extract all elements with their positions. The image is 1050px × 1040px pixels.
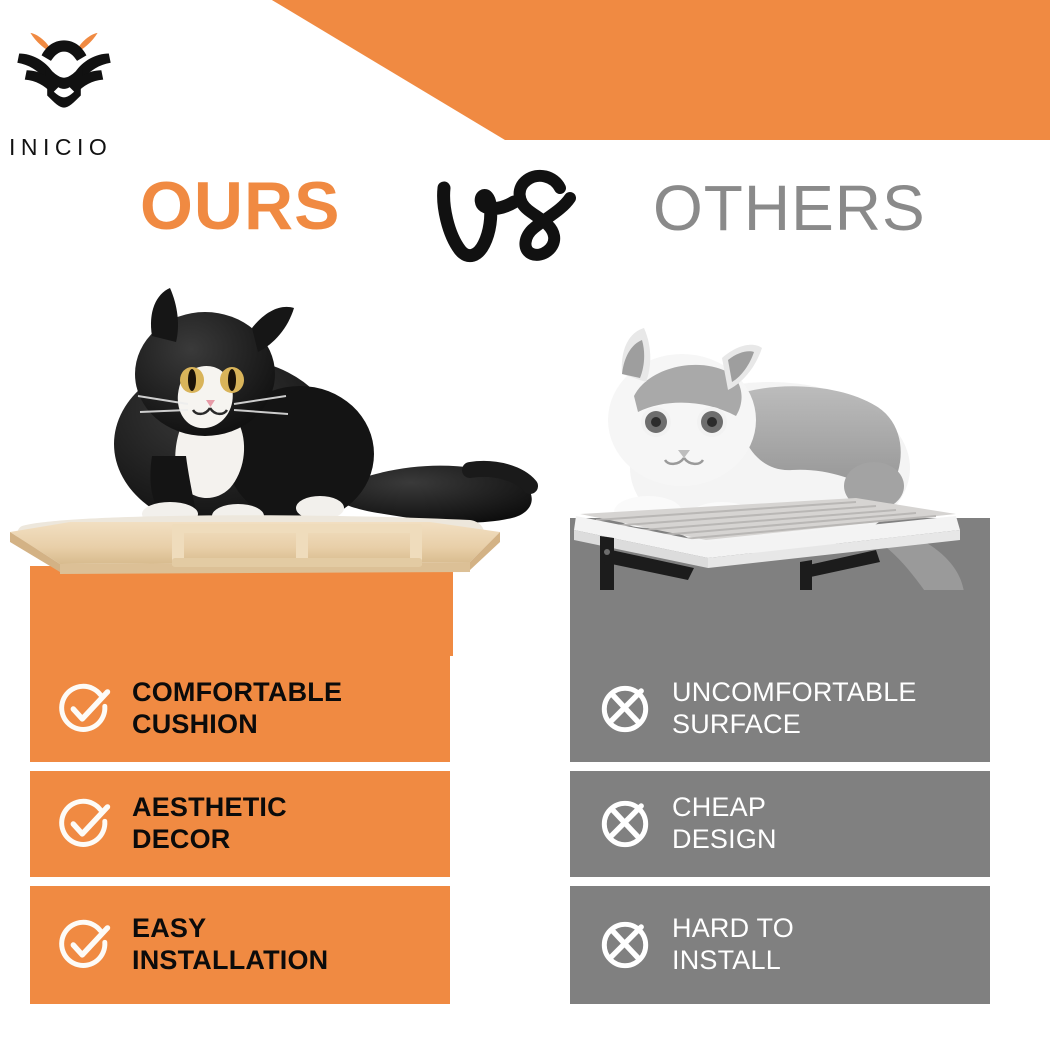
check-circle-icon <box>58 682 112 736</box>
feature-label: HARD TO INSTALL <box>672 913 794 977</box>
check-circle-icon <box>58 797 112 851</box>
headline-others: OTHERS <box>653 176 926 240</box>
feature-label: AESTHETIC DECOR <box>132 792 287 856</box>
feature-row-others: HARD TO INSTALL <box>570 886 990 1004</box>
feature-row-others: CHEAP DESIGN <box>570 771 990 877</box>
feature-label: UNCOMFORTABLE SURFACE <box>672 677 917 741</box>
cross-circle-icon <box>598 682 652 736</box>
orange-diagonal-banner <box>0 0 1050 140</box>
feature-label: COMFORTABLE CUSHION <box>132 677 342 741</box>
headline-vs-script <box>428 158 588 274</box>
check-circle-icon <box>58 918 112 972</box>
ours-product-image <box>0 276 540 586</box>
others-product-image <box>556 300 1036 590</box>
cross-circle-icon <box>598 918 652 972</box>
infographic-canvas: INICIO OURS vs OTHERS <box>0 0 1050 1040</box>
others-feature-list: UNCOMFORTABLE SURFACE CHEAP DESIGN HARD … <box>570 656 990 1004</box>
cross-circle-icon <box>598 797 652 851</box>
headline-ours: OURS <box>140 172 340 240</box>
brand-wordmark: INICIO <box>8 134 138 161</box>
feature-row-ours: AESTHETIC DECOR <box>30 771 450 877</box>
ours-feature-list: COMFORTABLE CUSHION AESTHETIC DECOR EASY… <box>30 656 450 1004</box>
feature-label: EASY INSTALLATION <box>132 913 328 977</box>
bee-logo-icon <box>8 18 120 130</box>
feature-label: CHEAP DESIGN <box>672 792 777 856</box>
feature-row-ours: COMFORTABLE CUSHION <box>30 656 450 762</box>
brand-logo: INICIO <box>8 18 138 161</box>
feature-row-ours: EASY INSTALLATION <box>30 886 450 1004</box>
headline-row: OURS vs OTHERS <box>0 170 1050 270</box>
feature-row-others: UNCOMFORTABLE SURFACE <box>570 656 990 762</box>
